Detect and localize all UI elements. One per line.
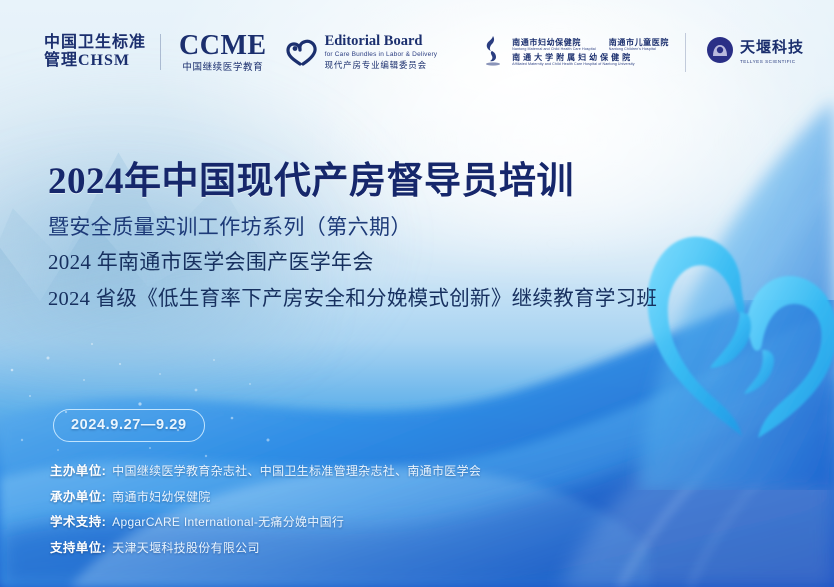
credit-value-academic-support: ApgarCARE International-无痛分娩中国行 — [112, 513, 344, 530]
logo-editorial-board: Editorial Board for Care Bundles in Labo… — [285, 33, 438, 72]
credit-label-academic-support: 学术支持: — [50, 511, 106, 530]
hospital-cn-2: 南通大学附属妇幼保健院 — [512, 53, 669, 62]
tellyes-text: 天堰科技 TELLYES SCIENTIFIC — [740, 40, 804, 64]
credits-block: 主办单位: 中国继续医学教育杂志社、中国卫生标准管理杂志社、南通市医学会 承办单… — [50, 460, 610, 562]
background-sparkle-dots — [0, 330, 300, 470]
credit-value-sponsor: 天津天堰科技股份有限公司 — [112, 539, 260, 556]
hospital-en-2: Affiliated Maternity and Child Health Ca… — [512, 62, 669, 66]
tellyes-mark-icon — [706, 36, 734, 69]
right-logo-group: 南通市妇幼保健院 Nantong Maternal and Child Heal… — [480, 33, 834, 72]
chsm-line1: 中国卫生标准 — [44, 34, 146, 52]
logo-china-health-standard-management: 中国卫生标准 管理CHSM — [44, 34, 161, 70]
editorial-board-chinese: 现代产房专业编辑委员会 — [325, 61, 438, 70]
tellyes-cn: 天堰科技 — [740, 40, 804, 57]
logo-ccme: CCME 中国继续医学教育 — [179, 32, 267, 73]
hospital-cn-1a: 南通市妇幼保健院 — [512, 38, 596, 47]
heart-mark-icon — [285, 33, 319, 72]
credit-label-host: 承办单位: — [50, 486, 106, 505]
poster-canvas: 中国卫生标准 管理CHSM CCME 中国继续医学教育 — [0, 0, 834, 587]
hospital-emblem-icon — [480, 33, 506, 72]
credit-row: 支持单位: 天津天堰科技股份有限公司 — [50, 537, 610, 556]
credit-value-host: 南通市妇幼保健院 — [112, 488, 210, 505]
credit-label-sponsor: 支持单位: — [50, 537, 106, 556]
chsm-line2: 管理CHSM — [44, 52, 146, 70]
poster-subtitle-1: 暨安全质量实训工作坊系列（第六期） — [48, 211, 688, 241]
editorial-board-title: Editorial Board — [325, 34, 438, 50]
tellyes-en: TELLYES SCIENTIFIC — [740, 59, 804, 64]
logo-tellyes-scientific: 天堰科技 TELLYES SCIENTIFIC — [706, 36, 804, 69]
ccme-subtitle: 中国继续医学教育 — [182, 63, 263, 73]
event-date-badge: 2024.9.27—9.29 — [53, 409, 205, 442]
hospital-en-1b: Nantong Children's Hospital — [609, 47, 669, 51]
poster-subtitle-3: 2024 省级《低生育率下产房安全和分娩模式创新》继续教育学习班 — [48, 281, 688, 311]
headline-block: 2024年中国现代产房督导员培训 暨安全质量实训工作坊系列（第六期） 2024 … — [48, 162, 688, 311]
credit-row: 主办单位: 中国继续医学教育杂志社、中国卫生标准管理杂志社、南通市医学会 — [50, 460, 610, 479]
credit-value-organizer: 中国继续医学教育杂志社、中国卫生标准管理杂志社、南通市医学会 — [112, 462, 481, 479]
logo-nantong-maternal-child-hospital: 南通市妇幼保健院 Nantong Maternal and Child Heal… — [480, 33, 686, 72]
credit-label-organizer: 主办单位: — [50, 460, 106, 479]
poster-subtitle-2: 2024 年南通市医学会围产医学年会 — [48, 246, 688, 276]
editorial-board-text: Editorial Board for Care Bundles in Labo… — [325, 34, 438, 70]
hospital-row-1: 南通市妇幼保健院 Nantong Maternal and Child Heal… — [512, 38, 669, 51]
left-logo-group: 中国卫生标准 管理CHSM CCME 中国继续医学教育 — [0, 32, 437, 73]
editorial-board-subtitle: for Care Bundles in Labor & Delivery — [325, 51, 438, 58]
hospital-cn-1b: 南通市儿童医院 — [609, 38, 669, 47]
hospital-text: 南通市妇幼保健院 Nantong Maternal and Child Heal… — [512, 38, 669, 67]
ccme-abbr: CCME — [179, 32, 267, 60]
hospital-en-1a: Nantong Maternal and Child Health Care H… — [512, 47, 596, 51]
poster-main-title: 2024年中国现代产房督导员培训 — [48, 162, 688, 202]
credit-row: 学术支持: ApgarCARE International-无痛分娩中国行 — [50, 511, 610, 530]
hospital-row-2: 南通大学附属妇幼保健院 Affiliated Maternity and Chi… — [512, 53, 669, 66]
sponsor-logo-bar: 中国卫生标准 管理CHSM CCME 中国继续医学教育 — [0, 24, 834, 80]
credit-row: 承办单位: 南通市妇幼保健院 — [50, 486, 610, 505]
